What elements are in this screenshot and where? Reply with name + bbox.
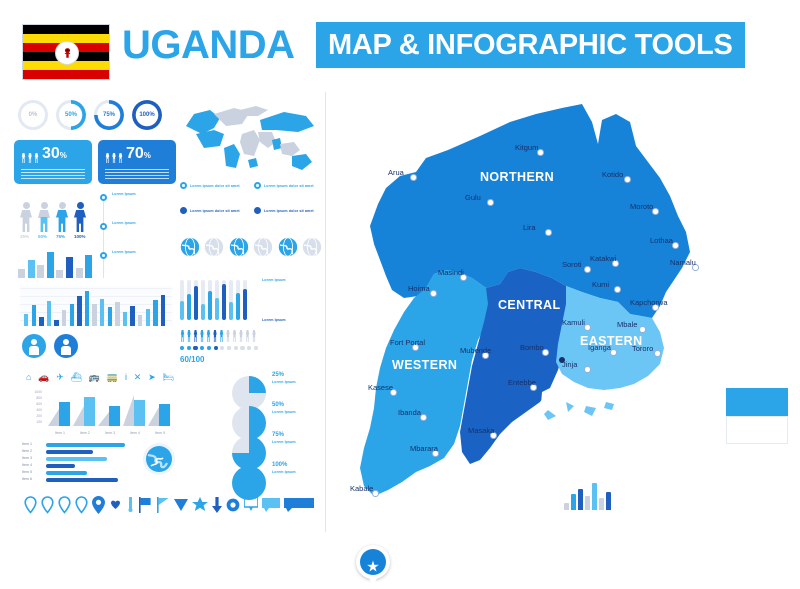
globe-icon[interactable]	[180, 237, 200, 262]
bar	[599, 498, 604, 510]
map-pin-icon-row	[24, 494, 314, 520]
progress-bar-list: Item 1Item 2Item 3Item 4Item 5Item 6	[22, 442, 140, 486]
city-label: Lothaa	[650, 236, 673, 245]
flag-icon[interactable]	[138, 497, 152, 518]
note-heading: Lorem Ipsum	[272, 470, 322, 474]
area-blue	[134, 400, 145, 426]
level-fill	[236, 293, 240, 320]
pin-outline-icon[interactable]	[24, 496, 37, 519]
person-icon	[213, 328, 218, 342]
timeline-heading: Lorem Ipsum	[112, 250, 172, 254]
world-note: Lorem ipsum dolor sit amet	[254, 207, 322, 215]
kpi-card: 70%	[98, 140, 176, 184]
progress-label: Item 4	[22, 463, 32, 467]
plane-icon[interactable]: ✈	[56, 373, 64, 382]
person-pictogram	[74, 202, 86, 232]
city-label: Kabale	[350, 484, 373, 493]
pie-note: Lorem Ipsum	[272, 410, 322, 414]
arrow-down-icon[interactable]	[212, 497, 222, 518]
bar	[585, 496, 590, 510]
bar	[161, 295, 165, 326]
person-icon	[206, 328, 211, 342]
level-track	[222, 280, 226, 320]
pin-solid-icon[interactable]	[92, 496, 105, 519]
heart-pin-icon[interactable]	[109, 497, 122, 518]
target-icon[interactable]	[226, 498, 240, 517]
bar	[47, 301, 51, 326]
city-label: Jinja	[562, 360, 577, 369]
city-label: Masaka	[468, 426, 494, 435]
city-label: Katakwi	[590, 254, 616, 263]
note-bullet	[254, 207, 261, 214]
pie-chart	[232, 466, 266, 500]
globe-icon[interactable]	[278, 237, 298, 262]
title-banner: MAP & INFOGRAPHIC TOOLS	[316, 22, 745, 68]
timeline-bullet	[100, 252, 107, 259]
gauge-75%: 75%	[94, 100, 124, 130]
city-label: Lira	[523, 223, 536, 232]
city-label-layer: AruaKitgumKotidoGuluMorotoLiraLothaaSoro…	[330, 92, 800, 532]
bar	[108, 307, 112, 326]
progress-bar	[46, 443, 125, 447]
city-dot	[624, 176, 631, 183]
bar	[115, 302, 119, 326]
city-label: Bombo	[520, 343, 544, 352]
bar	[138, 315, 142, 326]
globe-icon[interactable]	[253, 237, 273, 262]
person-level-label: 100%	[74, 234, 86, 242]
city-label: Kapchorwa	[630, 298, 668, 307]
progress-label: Item 6	[22, 477, 32, 481]
level-fill	[229, 302, 233, 320]
world-map	[180, 100, 320, 178]
header: UGANDA MAP & INFOGRAPHIC TOOLS	[0, 0, 800, 90]
person-icon	[187, 328, 192, 342]
person-circle-icon	[54, 334, 78, 358]
person-head	[59, 202, 66, 209]
bar	[130, 306, 134, 326]
progress-bar	[46, 464, 75, 468]
uganda-map: ★ NORTHERNEASTERNCENTRALWESTERN AruaKitg…	[330, 92, 800, 532]
area-blue	[84, 397, 95, 426]
area-grey	[98, 412, 109, 426]
area-grey	[123, 395, 134, 426]
note-heading: Lorem Ipsum	[272, 440, 322, 444]
pie-note: Lorem Ipsum	[272, 440, 322, 444]
timeline-item: Lorem Ipsum	[112, 221, 172, 225]
bar-pin-icon[interactable]	[126, 497, 135, 518]
text-line	[21, 169, 85, 170]
color-legend-swatch	[726, 388, 788, 444]
dot	[180, 346, 184, 351]
transport-icon-row: ⌂🚗✈⛴🚌🚃i✕➤🛏	[26, 370, 174, 384]
people-ratio-row	[180, 324, 258, 342]
timeline-list: Lorem IpsumLorem IpsumLorem Ipsum	[100, 192, 176, 280]
people-icon-group	[105, 151, 123, 163]
timeline-item: Lorem Ipsum	[112, 250, 172, 254]
city-dot	[545, 229, 552, 236]
y-tick: 200	[36, 414, 42, 418]
person-icon	[239, 328, 244, 342]
uganda-flag	[22, 24, 110, 80]
text-line	[21, 178, 85, 179]
bar	[24, 314, 28, 326]
note-heading: Lorem Ipsum	[262, 318, 320, 322]
bar	[606, 492, 611, 510]
mid-note: Lorem Ipsum	[262, 318, 320, 322]
area-grey	[48, 409, 59, 426]
kpi-top: 30%	[14, 140, 92, 163]
bar	[32, 305, 36, 326]
timeline-axis	[103, 196, 104, 278]
kpi-card: 30%	[14, 140, 92, 184]
dot	[200, 346, 204, 351]
timeline-heading: Lorem Ipsum	[112, 221, 172, 225]
person-level-label: 25%	[20, 234, 32, 242]
bar	[28, 260, 35, 278]
avatar-row	[22, 334, 78, 360]
city-label: Kitgum	[515, 143, 538, 152]
person-head	[41, 202, 48, 209]
timeline-bullet	[100, 223, 107, 230]
level-fill	[194, 286, 198, 320]
kpi-card-row: 30%70%	[14, 140, 176, 186]
bar	[123, 312, 127, 326]
level-fill	[243, 289, 247, 320]
bar	[92, 304, 96, 326]
globe-icon[interactable]	[229, 237, 249, 262]
person-icon	[105, 151, 110, 163]
person-circle-icon	[22, 334, 46, 358]
level-track	[187, 280, 191, 320]
dot	[193, 346, 197, 351]
bar	[592, 483, 597, 510]
level-track	[229, 280, 233, 320]
level-fill	[187, 294, 191, 320]
area-blue	[59, 402, 70, 426]
pie-chart	[232, 376, 266, 410]
city-label: Entebbe	[508, 378, 536, 387]
text-line	[105, 172, 169, 173]
bar	[85, 291, 89, 326]
city-label: Soroti	[562, 260, 582, 269]
person-icon	[21, 151, 26, 163]
globe-icon	[142, 442, 176, 482]
person-fill	[56, 210, 68, 233]
mid-note-list: Lorem IpsumLorem Ipsum	[262, 278, 322, 352]
city-dot	[430, 290, 437, 297]
progress-label: Item 3	[22, 456, 32, 460]
timeline-bullet	[100, 194, 107, 201]
level-track	[208, 280, 212, 320]
bar	[76, 268, 83, 278]
person-level-label: 50%	[38, 234, 50, 242]
flag-emblem	[55, 41, 79, 65]
city-label: Moroto	[630, 202, 653, 211]
big-bar-chart	[20, 286, 172, 326]
level-track	[194, 280, 198, 320]
person-fill	[38, 217, 50, 232]
dot	[254, 346, 258, 351]
city-label: Fort Portal	[390, 338, 425, 347]
person-icon	[28, 151, 33, 163]
x-tick: Item 2	[73, 431, 97, 435]
triangle-marker-icon[interactable]	[174, 498, 188, 517]
kpi-lines	[21, 167, 85, 179]
y-tick: 1000	[34, 390, 42, 394]
person-pictogram	[38, 202, 50, 232]
person-icon	[34, 151, 39, 163]
progress-label: Item 5	[22, 470, 32, 474]
bed-icon[interactable]: 🛏	[162, 373, 173, 382]
map-mini-bar-chart	[564, 476, 611, 510]
city-dot	[487, 199, 494, 206]
banner-wide-icon[interactable]	[284, 498, 314, 517]
world-note: Lorem ipsum dolor sit amet	[180, 182, 248, 190]
bar	[39, 317, 43, 326]
dot	[187, 346, 191, 351]
dot	[214, 346, 218, 351]
dots-ratio-row	[180, 344, 258, 352]
kpi-value: 30%	[42, 146, 67, 163]
city-label: Hoima	[408, 284, 430, 293]
x-tick: Item 4	[123, 431, 147, 435]
gauge-label: 50%	[56, 100, 86, 130]
world-note-list: Lorem ipsum dolor sit ametLorem ipsum do…	[180, 182, 322, 230]
timeline-item: Lorem Ipsum	[112, 192, 172, 196]
dot	[247, 346, 251, 351]
note-bullet	[254, 182, 261, 189]
send-icon[interactable]: ➤	[148, 373, 156, 382]
pie-label: 75%	[272, 432, 284, 438]
kpi-value: 70%	[126, 146, 151, 163]
y-tick: 600	[36, 402, 42, 406]
flag-corner-icon[interactable]	[156, 497, 170, 518]
text-line	[105, 175, 169, 176]
text-line	[105, 169, 169, 170]
pie-chart-list: 25%Lorem Ipsum50%Lorem Ipsum75%Lorem Ips…	[232, 372, 324, 492]
bar	[18, 269, 25, 278]
people-level-labels: 25%50%75%100%	[20, 234, 94, 242]
city-label: Kotido	[602, 170, 623, 179]
progress-bar	[46, 457, 107, 461]
area-blue	[159, 404, 170, 426]
page-title: UGANDA	[122, 22, 295, 68]
city-label: Kamuli	[562, 318, 585, 327]
home-icon[interactable]: ⌂	[26, 373, 31, 382]
person-pictogram	[20, 202, 32, 232]
level-fill	[180, 301, 184, 320]
pie-label: 25%	[272, 372, 284, 378]
note-bullet	[180, 207, 187, 214]
text-line	[21, 172, 85, 173]
note-heading: Lorem ipsum dolor sit amet	[264, 209, 314, 213]
bar	[100, 299, 104, 326]
bar	[578, 489, 583, 510]
progress-label: Item 1	[22, 442, 32, 446]
bar	[153, 300, 157, 326]
person-level-label: 75%	[56, 234, 68, 242]
person-icon	[252, 328, 257, 342]
y-tick: 100	[36, 420, 42, 424]
kpi-top: 70%	[98, 140, 176, 163]
person-icon	[118, 151, 123, 163]
progress-bar	[46, 450, 93, 454]
pie-label: 100%	[272, 462, 287, 468]
city-label: Mbale	[617, 320, 637, 329]
level-track	[236, 280, 240, 320]
x-tick: Item 3	[98, 431, 122, 435]
timeline-heading: Lorem Ipsum	[112, 192, 172, 196]
person-icon	[112, 151, 117, 163]
star-map-pin[interactable]: ★	[356, 545, 390, 589]
bar	[66, 257, 73, 278]
text-line	[21, 175, 85, 176]
level-track	[243, 280, 247, 320]
bus-icon[interactable]: 🚌	[89, 373, 100, 382]
city-label: Gulu	[465, 193, 481, 202]
person-icon	[219, 328, 224, 342]
pin-outline-icon[interactable]	[75, 496, 88, 519]
bar	[85, 255, 92, 278]
banner-icon[interactable]	[262, 498, 280, 517]
train-icon[interactable]: 🚃	[107, 373, 118, 382]
pin-outline-icon[interactable]	[58, 496, 71, 519]
bar	[56, 270, 63, 278]
person-icon	[245, 328, 250, 342]
car-icon[interactable]: 🚗	[38, 373, 49, 382]
x-tick: Item 1	[48, 431, 72, 435]
gauge-label: 100%	[132, 100, 162, 130]
city-label: Mbarara	[410, 444, 438, 453]
dot	[240, 346, 244, 351]
ship-icon[interactable]: ⛴	[71, 373, 82, 382]
dot	[227, 346, 231, 351]
bar	[47, 252, 54, 278]
banner-text: MAP & INFOGRAPHIC TOOLS	[328, 29, 733, 62]
area-blue	[109, 406, 120, 426]
progress-bar	[46, 471, 87, 475]
pie-note: Lorem Ipsum	[272, 380, 322, 384]
pin-outline-icon[interactable]	[41, 496, 54, 519]
note-heading: Lorem Ipsum	[262, 278, 320, 282]
kpi-lines	[105, 167, 169, 179]
info-icon[interactable]: i	[125, 373, 127, 382]
mid-note: Lorem Ipsum	[262, 278, 320, 282]
city-label: Arua	[388, 168, 404, 177]
pie-note: Lorem Ipsum	[272, 470, 322, 474]
dot	[207, 346, 211, 351]
gauge-label: 75%	[94, 100, 124, 130]
bar	[54, 320, 58, 326]
gridline	[20, 288, 172, 289]
star-marker-icon[interactable]	[192, 497, 208, 517]
person-icon	[193, 328, 198, 342]
city-label: Kasese	[368, 383, 393, 392]
level-fill	[215, 298, 219, 320]
divider	[325, 92, 326, 532]
city-dot	[654, 350, 661, 357]
person-icon	[232, 328, 237, 342]
bar	[146, 309, 150, 326]
people-level-row	[20, 196, 94, 232]
dot	[234, 346, 238, 351]
pie-chart	[232, 436, 266, 470]
crane-icon	[62, 47, 73, 60]
area-grey	[73, 406, 84, 426]
text-line	[105, 178, 169, 179]
level-fill	[222, 284, 226, 320]
level-track	[201, 280, 205, 320]
y-tick: 800	[36, 396, 42, 400]
gauge-50%: 50%	[56, 100, 86, 130]
city-label: Tororo	[632, 344, 653, 353]
city-dot	[584, 266, 591, 273]
area-bar-chart: 1000800600400200100Item 1Item 2Item 3Ite…	[22, 390, 172, 436]
y-axis: 1000800600400200100	[22, 390, 44, 426]
donut-gauge-row: 0%50%75%100%	[18, 100, 168, 134]
bar	[62, 310, 66, 326]
city-label: Kumi	[592, 280, 609, 289]
star-icon: ★	[366, 560, 379, 575]
person-icon	[226, 328, 231, 342]
person-head	[23, 202, 30, 209]
gauge-0%: 0%	[18, 100, 48, 130]
level-fill	[201, 304, 205, 320]
bar	[37, 265, 44, 278]
pie-chart	[232, 406, 266, 440]
note-heading: Lorem ipsum dolor sit amet	[190, 184, 240, 188]
note-heading: Lorem Ipsum	[272, 380, 322, 384]
area-grey	[148, 407, 159, 426]
city-dot	[639, 326, 646, 333]
note-heading: Lorem Ipsum	[272, 410, 322, 414]
person-fill	[20, 225, 32, 233]
level-track	[180, 280, 184, 320]
y-tick: 400	[36, 408, 42, 412]
city-label: Iganga	[588, 343, 611, 352]
bar	[77, 296, 81, 326]
city-dot	[584, 366, 591, 373]
person-fill	[74, 202, 86, 232]
close-icon[interactable]: ✕	[134, 373, 142, 382]
person-icon	[200, 328, 205, 342]
progress-label: Item 2	[22, 449, 32, 453]
level-fill	[208, 291, 212, 320]
note-bullet	[180, 182, 187, 189]
globe-icon[interactable]	[204, 237, 224, 262]
city-label: Ibanda	[398, 408, 421, 417]
city-dot	[410, 174, 417, 181]
infographic-poster: UGANDA MAP & INFOGRAPHIC TOOLS 0%50%75%1…	[0, 0, 800, 543]
globe-icon[interactable]	[302, 237, 322, 262]
globe-icon-row	[180, 236, 322, 262]
gauge-label: 0%	[18, 100, 48, 130]
note-heading: Lorem ipsum dolor sit amet	[264, 184, 314, 188]
note-heading: Lorem ipsum dolor sit amet	[190, 209, 240, 213]
gauge-100%: 100%	[132, 100, 162, 130]
column-level-chart	[180, 280, 252, 320]
small-bar-chart	[18, 248, 96, 278]
progress-bar	[46, 478, 118, 482]
ratio-label: 60/100	[180, 355, 204, 364]
side-note-list	[180, 372, 224, 482]
bar	[70, 304, 74, 326]
pie-label: 50%	[272, 402, 284, 408]
city-label: Mubende	[460, 346, 491, 355]
world-note: Lorem ipsum dolor sit amet	[180, 207, 248, 215]
gridline	[20, 296, 172, 297]
